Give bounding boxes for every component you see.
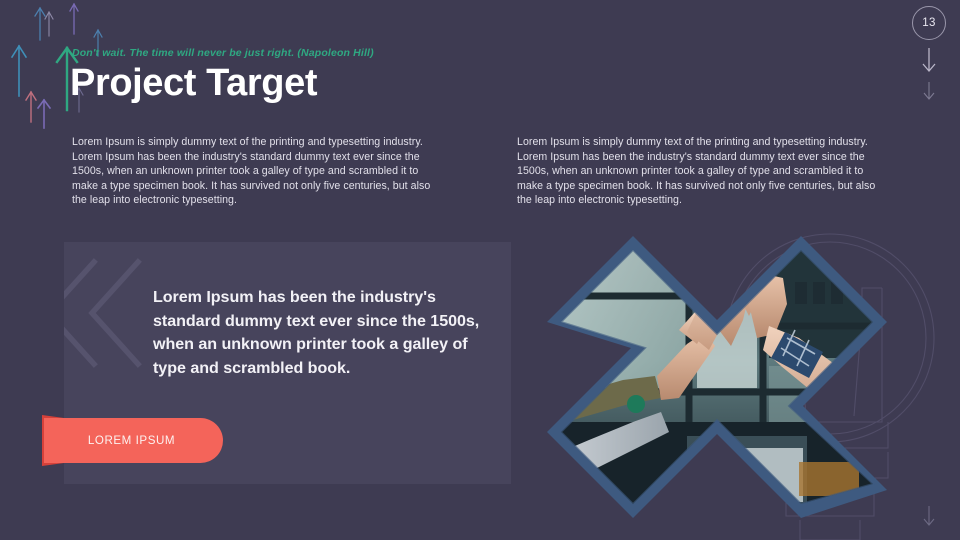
team-high-five-photo xyxy=(537,226,897,526)
artwork-group xyxy=(520,226,960,540)
lorem-ipsum-cta-button[interactable]: LOREM IPSUM xyxy=(42,418,223,463)
arrow-down-icon xyxy=(912,44,946,104)
page-number-badge: 13 xyxy=(912,6,946,40)
x-shape-mask xyxy=(537,226,897,526)
body-paragraph-right: Lorem Ipsum is simply dummy text of the … xyxy=(517,135,879,208)
page-title: Project Target xyxy=(70,62,317,106)
slide-canvas: 13 Don't wait. The time will never be ju… xyxy=(0,0,960,540)
quote-text: Lorem Ipsum has been the industry's stan… xyxy=(153,286,483,380)
kicker-quote: Don't wait. The time will never be just … xyxy=(72,47,374,59)
body-paragraph-left: Lorem Ipsum is simply dummy text of the … xyxy=(72,135,434,208)
cta-label: LOREM IPSUM xyxy=(42,418,221,463)
